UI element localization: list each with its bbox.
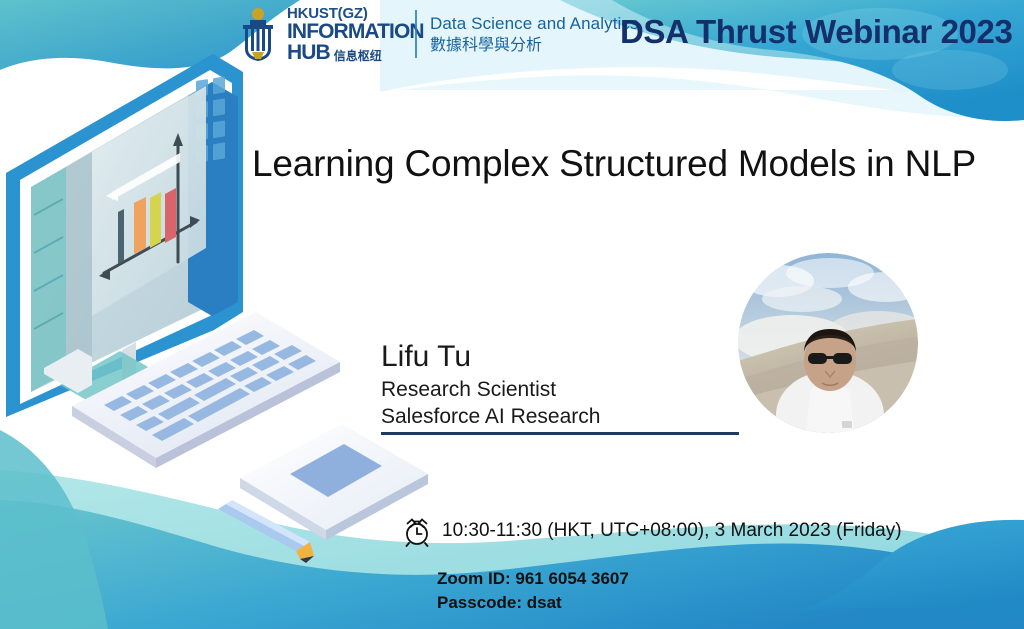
alarm-clock-icon (401, 515, 433, 547)
poster-header: HKUST(GZ) INFORMATION HUB 信息枢纽 Data Scie… (0, 0, 1024, 72)
speaker-portrait-image (738, 253, 918, 433)
speaker-info: Lifu Tu Research Scientist Salesforce AI… (381, 341, 600, 430)
speaker-role: Research Scientist (381, 377, 600, 403)
speaker-underline (381, 432, 739, 435)
logo-line-hkust-gz: HKUST(GZ) (287, 6, 424, 21)
logo-line-hub-row: HUB 信息枢纽 (287, 43, 424, 64)
thrust-name-chinese: 數據科學與分析 (430, 35, 639, 55)
logo-line-information: INFORMATION (287, 22, 424, 43)
talk-title: Learning Complex Structured Models in NL… (252, 143, 1012, 185)
hkust-information-hub-logo: HKUST(GZ) INFORMATION HUB 信息枢纽 (236, 6, 424, 63)
zoom-id: Zoom ID: 961 6054 3607 (437, 567, 629, 591)
event-title: DSA Thrust Webinar 2023 (620, 13, 1012, 51)
logo-line-hub: HUB (287, 43, 330, 64)
logo-wordmark: HKUST(GZ) INFORMATION HUB 信息枢纽 (287, 6, 424, 63)
zoom-passcode: Passcode: dsat (437, 591, 629, 615)
thrust-name-english: Data Science and Analytics (430, 14, 639, 35)
speaker-name: Lifu Tu (381, 341, 600, 373)
schedule-row: 10:30-11:30 (HKT, UTC+08:00), 3 March 20… (401, 515, 902, 547)
speaker-portrait (738, 253, 918, 433)
schedule-text: 10:30-11:30 (HKT, UTC+08:00), 3 March 20… (442, 520, 902, 542)
meeting-info: Zoom ID: 961 6054 3607 Passcode: dsat (437, 567, 629, 615)
header-divider (415, 10, 417, 58)
thrust-name-block: Data Science and Analytics 數據科學與分析 (430, 14, 639, 54)
webinar-poster: HKUST(GZ) INFORMATION HUB 信息枢纽 Data Scie… (0, 0, 1024, 629)
hkust-pillar-logo-icon (236, 7, 280, 63)
speaker-affiliation: Salesforce AI Research (381, 404, 600, 430)
logo-line-hub-chinese: 信息枢纽 (334, 50, 382, 63)
